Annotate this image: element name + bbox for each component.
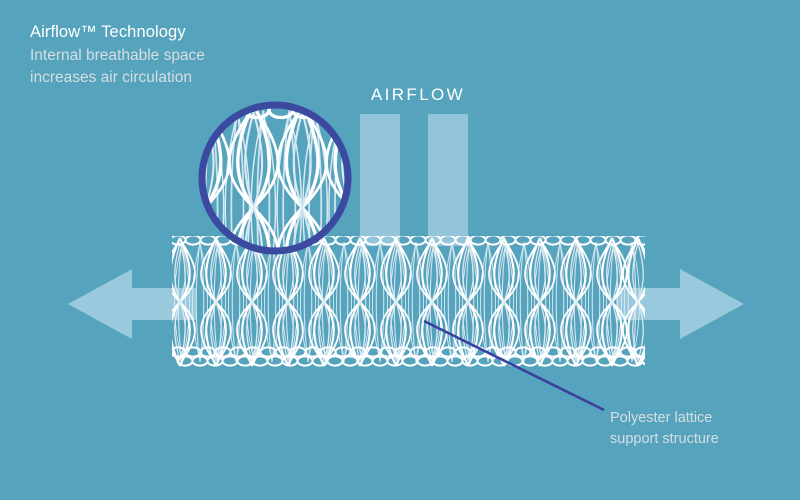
callout-label-line1: Polyester lattice xyxy=(610,408,790,429)
airflow-label: AIRFLOW xyxy=(358,85,478,105)
callout-label-line2: support structure xyxy=(610,429,790,450)
callout-label: Polyester lattice support structure xyxy=(610,408,790,450)
heading-subtitle-line2: increases air circulation xyxy=(30,67,350,89)
heading-block: Airflow™ Technology Internal breathable … xyxy=(30,22,350,89)
diagram-canvas: Airflow™ Technology Internal breathable … xyxy=(0,0,800,500)
page-title: Airflow™ Technology xyxy=(30,22,350,43)
heading-subtitle-line1: Internal breathable space xyxy=(30,45,350,67)
